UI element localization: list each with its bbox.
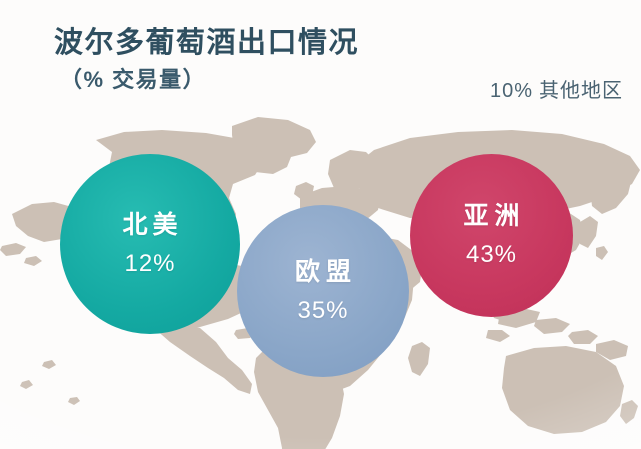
- bubble-north-america-value: 12%: [124, 252, 175, 276]
- bubble-north-america-label: 北美: [117, 213, 182, 238]
- headline-block: 波尔多葡萄酒出口情况 （% 交易量）: [54, 27, 359, 94]
- bubble-asia-label: 亚洲: [457, 204, 525, 229]
- bubble-eu[interactable]: 欧盟 35%: [237, 205, 409, 377]
- page-subtitle: （% 交易量）: [60, 66, 359, 94]
- other-regions-value: 10%: [490, 80, 533, 102]
- bubble-asia-value: 43%: [466, 243, 517, 267]
- other-regions-caption: 10%其他地区: [490, 74, 623, 103]
- bubble-eu-label: 欧盟: [289, 260, 357, 285]
- bubble-eu-value: 35%: [297, 299, 348, 323]
- page-title: 波尔多葡萄酒出口情况: [54, 27, 359, 60]
- bubble-north-america[interactable]: 北美 12%: [60, 154, 240, 334]
- other-regions-label: 其他地区: [539, 80, 623, 102]
- bubble-asia[interactable]: 亚洲 43%: [410, 154, 573, 317]
- infographic-canvas: 波尔多葡萄酒出口情况 （% 交易量） 10%其他地区 北美 12% 欧盟 35%…: [0, 0, 641, 449]
